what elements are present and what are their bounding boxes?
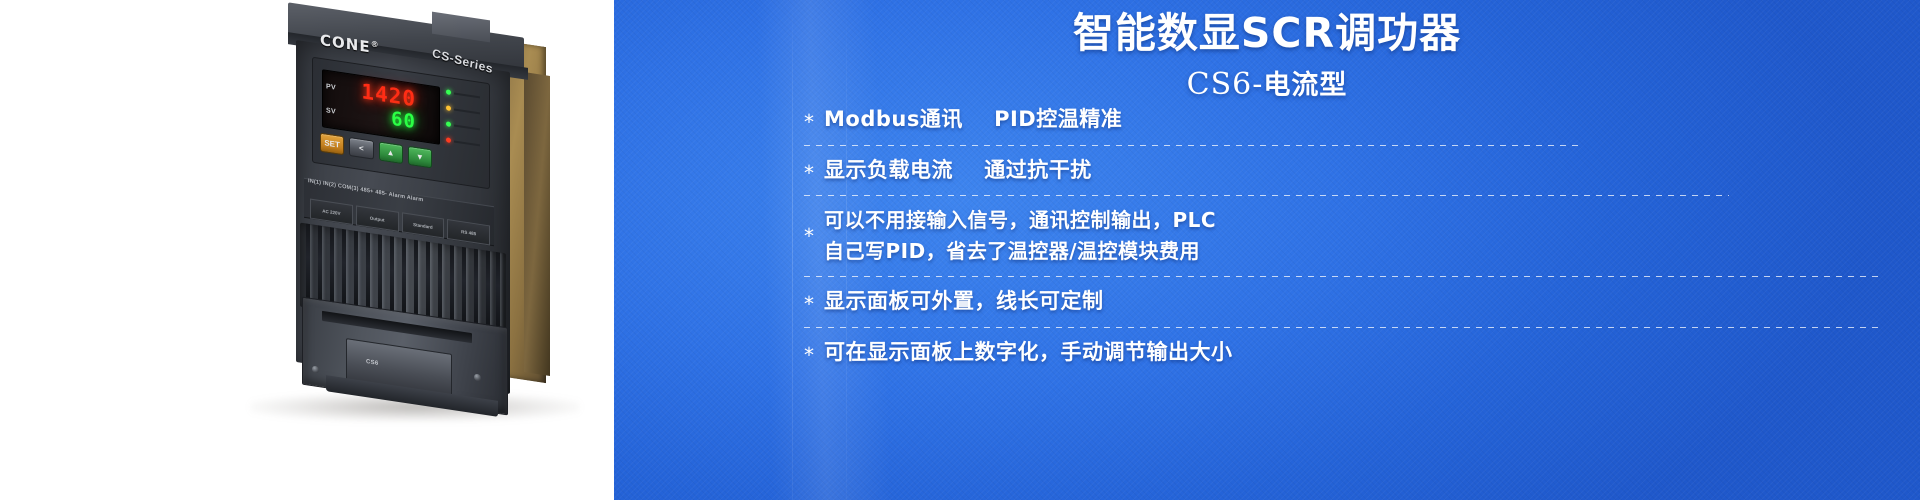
feature-separator [804, 145, 1579, 146]
product-photo-panel: CONE® CS-Series PV 1420 SV 60 [0, 0, 614, 500]
registered-mark-icon: ® [371, 39, 380, 49]
feature-text-line-2: 自己写PID，省去了温控器/温控模块费用 [824, 236, 1216, 267]
feature-text: 显示面板可外置，线长可定制 [824, 286, 1104, 318]
pv-label: PV [326, 83, 336, 91]
feature-item-5: * 可在显示面板上数字化，手动调节输出大小 [804, 337, 1880, 373]
feature-text: 显示负载电流 通过抗干扰 [824, 155, 1092, 187]
led-err-icon [446, 137, 451, 143]
feature-text: 可在显示面板上数字化，手动调节输出大小 [824, 337, 1233, 369]
subtitle-model-code: CS6- [1187, 67, 1264, 102]
feature-separator [804, 195, 1729, 196]
led-alm-icon [446, 105, 451, 111]
key-up[interactable]: ▲ [379, 141, 403, 164]
page-title: 智能数显SCR调功器 [614, 8, 1920, 59]
led-bar-4 [454, 141, 480, 147]
key-down[interactable]: ▼ [408, 145, 432, 168]
bullet-star-icon: * [804, 337, 814, 365]
feature-item-1: * Modbus通讯 PID控温精准 [804, 104, 1880, 140]
bullet-star-icon: * [804, 155, 814, 183]
headings-block: 智能数显SCR调功器 CS6-电流型 [614, 8, 1920, 102]
led-bar-3 [454, 125, 480, 131]
feature-separator [804, 327, 1880, 328]
feature-item-4: * 显示面板可外置，线长可定制 [804, 286, 1880, 322]
bullet-star-icon: * [804, 286, 814, 314]
key-shift[interactable]: < [349, 137, 373, 160]
status-led-bank [444, 83, 484, 161]
page-subtitle: CS6-电流型 [614, 63, 1920, 102]
bullet-star-icon: * [804, 226, 814, 246]
feature-text: Modbus通讯 PID控温精准 [824, 104, 1122, 136]
subtitle-model-type: 电流型 [1263, 70, 1347, 101]
scr-power-controller-device: CONE® CS-Series PV 1420 SV 60 [282, 16, 582, 406]
feature-separator [804, 276, 1880, 277]
led-bar-1 [454, 93, 480, 99]
led-out-icon [446, 89, 451, 95]
product-photo: CONE® CS-Series PV 1420 SV 60 [0, 0, 614, 500]
screw-icon [312, 365, 319, 373]
feature-item-3: * 可以不用接输入信号，通讯控制输出，PLC 自己写PID，省去了温控器/温控模… [804, 205, 1880, 271]
led-run-icon [446, 121, 451, 127]
feature-text-line-1: 可以不用接输入信号，通讯控制输出，PLC [824, 205, 1216, 236]
screw-icon [474, 373, 481, 381]
feature-list: * Modbus通讯 PID控温精准 * 显示负载电流 通过抗干扰 * 可以不用… [804, 104, 1880, 372]
led-bar-2 [454, 109, 480, 115]
feature-item-2: * 显示负载电流 通过抗干扰 [804, 155, 1880, 191]
product-banner: CONE® CS-Series PV 1420 SV 60 [0, 0, 1920, 500]
device-rear-plate [524, 72, 550, 376]
bullet-star-icon: * [804, 104, 814, 132]
marketing-panel: 智能数显SCR调功器 CS6-电流型 * Modbus通讯 PID控温精准 * … [614, 0, 1920, 500]
sv-label: SV [326, 107, 336, 115]
key-set[interactable]: SET [320, 132, 344, 155]
